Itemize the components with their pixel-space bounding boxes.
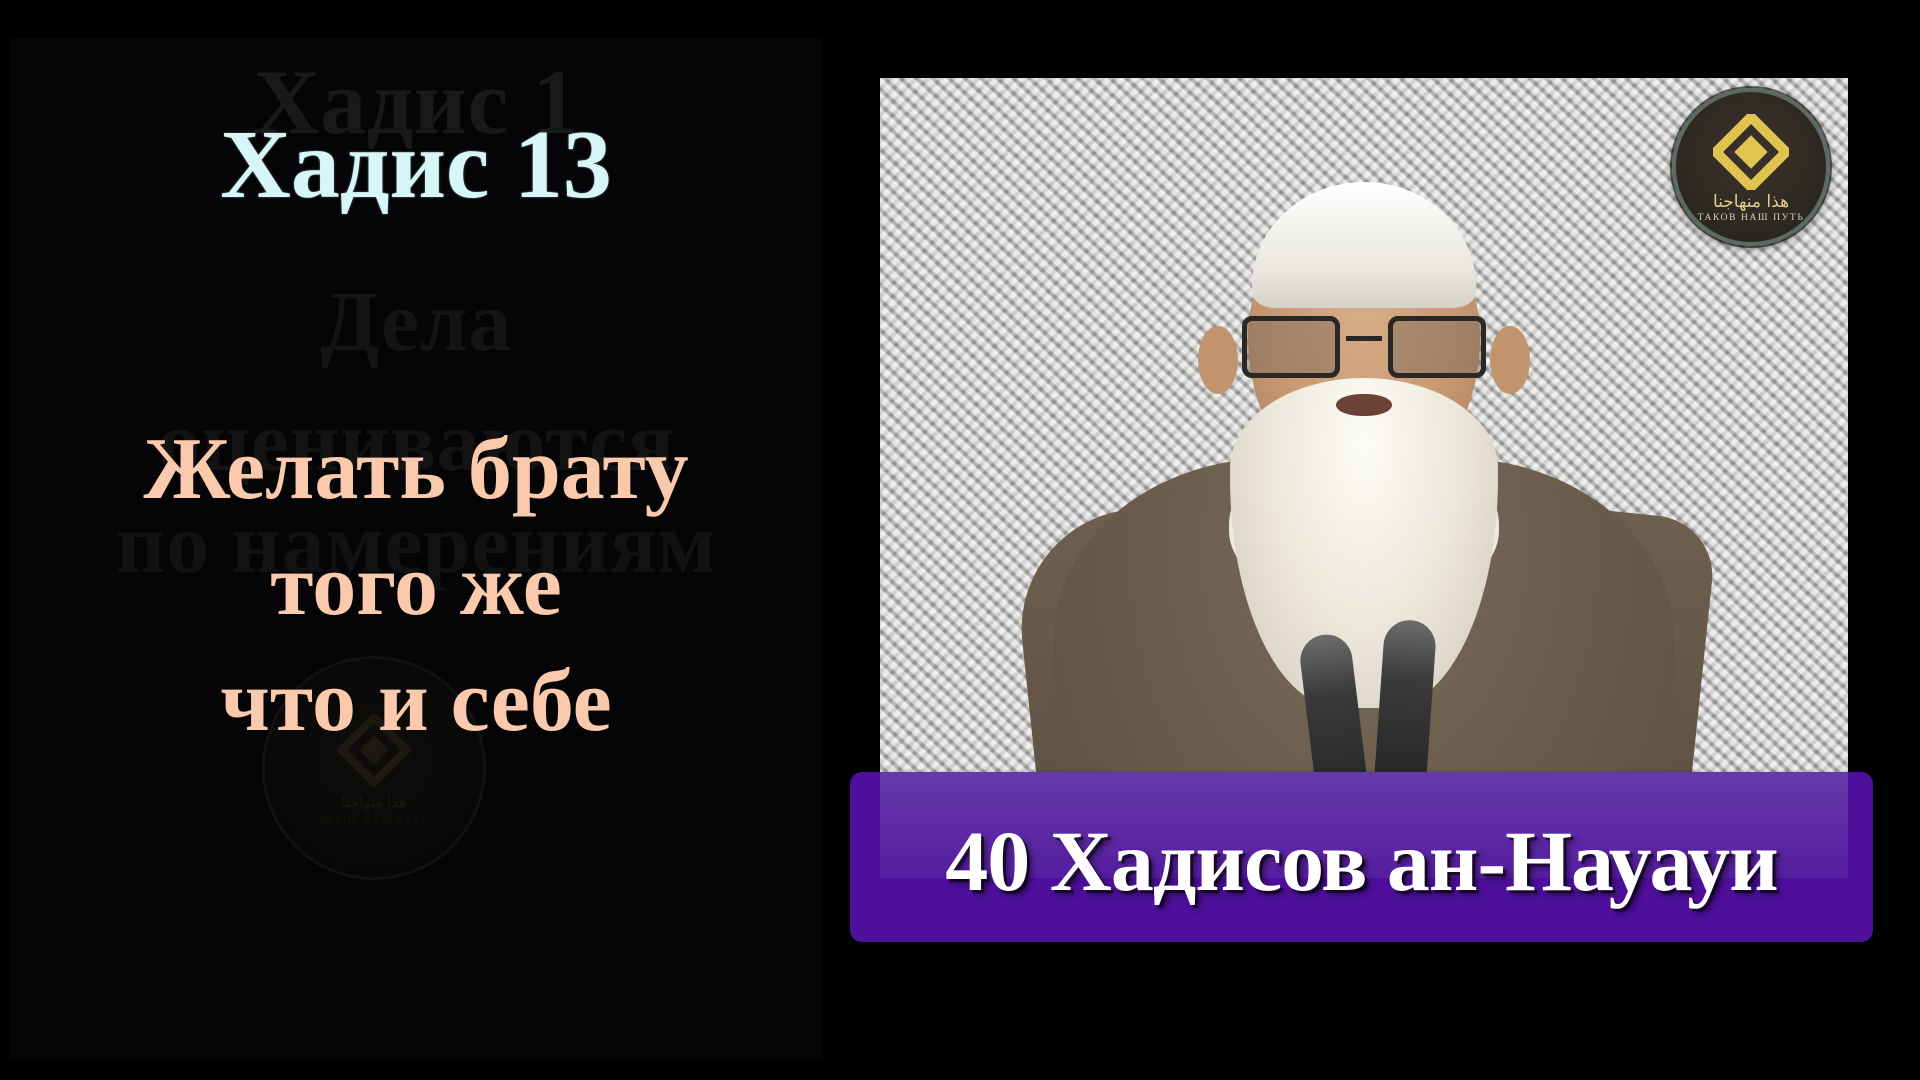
channel-logo-badge: هذا منهاجنا ТАКОВ НАШ ПУТЬ bbox=[1672, 88, 1830, 246]
speaker-ear-left bbox=[1198, 326, 1238, 394]
speaker-mouth bbox=[1336, 394, 1392, 416]
hadith-number-title: Хадис 13 bbox=[10, 116, 822, 214]
channel-badge-arabic: هذا منهاجنا bbox=[1713, 194, 1789, 211]
hadith-subject: Желать брату того же что и себе bbox=[10, 426, 822, 746]
eyeglass-bridge bbox=[1346, 336, 1382, 341]
hadith-subject-line-1: Желать брату bbox=[10, 426, 822, 514]
left-text-panel: Хадис 1 Дела оцениваются по намерениям ه… bbox=[10, 38, 822, 1060]
video-frame[interactable]: هذا منهاجنا ТАКОВ НАШ ПУТЬ bbox=[880, 78, 1848, 878]
slide-stage: Хадис 1 Дела оцениваются по намерениям ه… bbox=[0, 0, 1920, 1080]
foreground-text-layer: Хадис 13 Желать брату того же что и себе bbox=[10, 38, 822, 1060]
series-banner: 40 Хадисов ан-Науауи bbox=[850, 772, 1873, 942]
speaker-ear-right bbox=[1490, 326, 1530, 394]
hadith-subject-line-2: того же bbox=[10, 542, 822, 630]
channel-badge-russian: ТАКОВ НАШ ПУТЬ bbox=[1698, 214, 1805, 224]
eyeglass-lens-left bbox=[1242, 316, 1340, 378]
diamond-logo-icon bbox=[1713, 114, 1789, 190]
series-title: 40 Хадисов ан-Науауи bbox=[850, 818, 1873, 904]
hadith-subject-line-3: что и себе bbox=[10, 658, 822, 746]
eyeglass-lens-right bbox=[1388, 316, 1486, 378]
speaker-eyeglasses bbox=[1248, 316, 1480, 370]
